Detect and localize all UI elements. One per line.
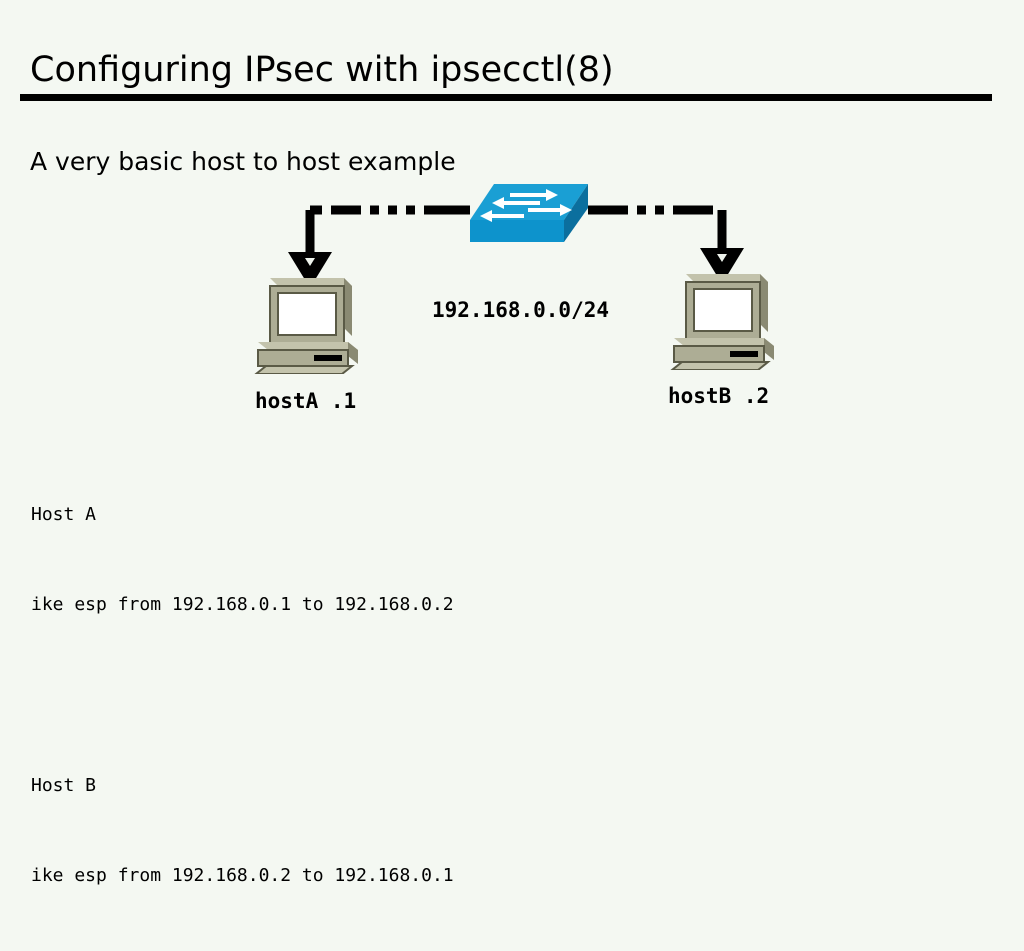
host-a-computer-icon (252, 274, 362, 374)
title-divider (20, 94, 992, 101)
host-a-label: hostA .1 (255, 389, 356, 413)
host-b-config-heading: Host B (31, 771, 454, 801)
config-spacer (31, 680, 454, 711)
ipsec-config-block: Host A ike esp from 192.168.0.1 to 192.1… (31, 440, 454, 951)
page-title: Configuring IPsec with ipsecctl(8) (30, 48, 614, 92)
network-label: 192.168.0.0/24 (432, 298, 609, 322)
host-a-config-rule: ike esp from 192.168.0.1 to 192.168.0.2 (31, 590, 454, 620)
host-b-computer-icon (668, 270, 778, 370)
host-a-config-heading: Host A (31, 500, 454, 530)
network-switch-icon (468, 182, 590, 254)
host-b-config-rule: ike esp from 192.168.0.2 to 192.168.0.1 (31, 861, 454, 891)
slide: Configuring IPsec with ipsecctl(8) A ver… (0, 0, 1024, 768)
host-b-label: hostB .2 (668, 384, 769, 408)
